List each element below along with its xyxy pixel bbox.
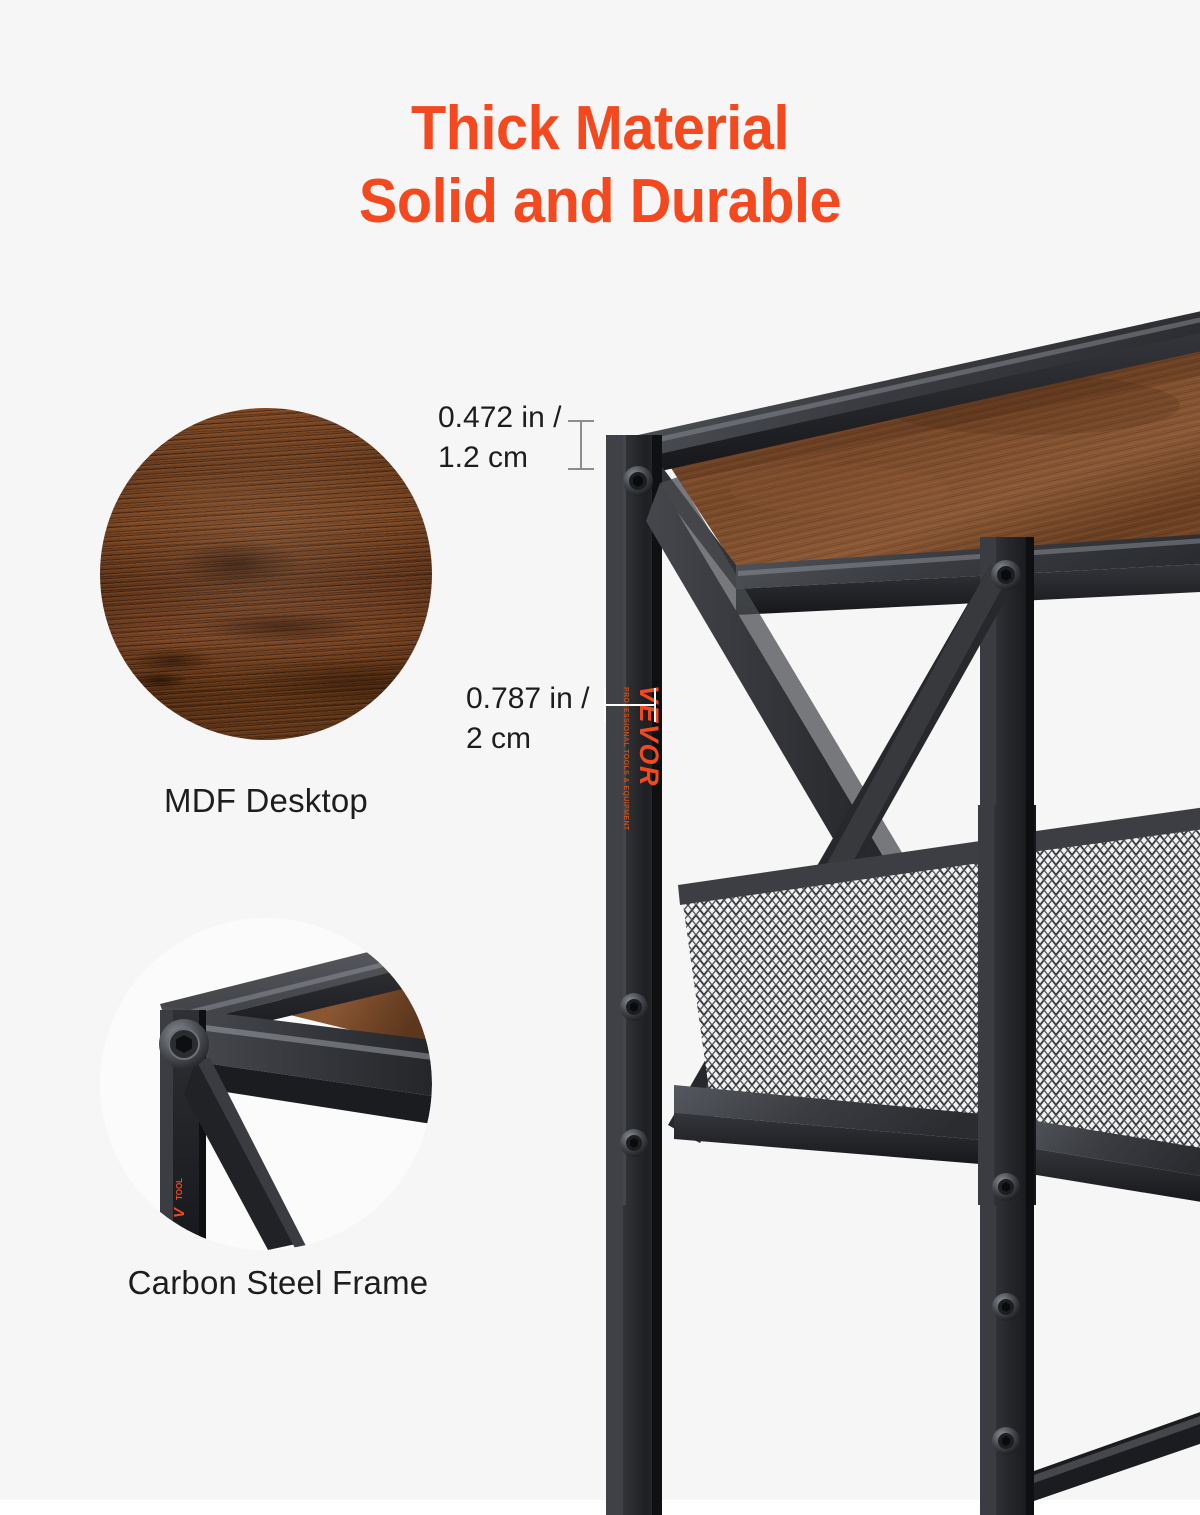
hex-bolt bbox=[620, 1129, 648, 1157]
mdf-desktop-caption: MDF Desktop bbox=[0, 782, 532, 820]
frame-tube-width-cm: 2 cm bbox=[466, 722, 531, 755]
lower-diagonal-rod bbox=[1034, 1405, 1200, 1501]
poster-canvas: Thick Material Solid and Durable MDF Des… bbox=[0, 0, 1200, 1500]
hex-bolt bbox=[992, 1293, 1020, 1321]
headline-line-2: Solid and Durable bbox=[42, 165, 1158, 238]
hex-bolt bbox=[620, 993, 648, 1021]
product-photo: VEVOR PROFESSIONAL TOOLS & EQUIPMENT Ind… bbox=[560, 285, 1200, 1515]
svg-text:TOOL: TOOL bbox=[175, 1178, 184, 1200]
carbon-steel-frame-caption: Carbon Steel Frame bbox=[0, 1264, 556, 1302]
caliper-cap-right bbox=[654, 688, 656, 722]
frame-tube-width-caliper-icon bbox=[604, 688, 656, 722]
hex-bolt bbox=[991, 560, 1021, 590]
shelf-illustration: VEVOR PROFESSIONAL TOOLS & EQUIPMENT Ind… bbox=[560, 285, 1200, 1515]
carbon-steel-frame-swatch: V TOOL bbox=[100, 918, 432, 1250]
hex-bolt bbox=[992, 1173, 1020, 1201]
hex-bolt bbox=[623, 466, 653, 496]
desktop-thickness-cm: 1.2 cm bbox=[438, 441, 528, 474]
frame-corner-closeup: V TOOL bbox=[100, 918, 432, 1250]
swatch-vignette bbox=[100, 408, 432, 740]
mesh-shelf bbox=[674, 805, 1200, 1205]
page-title: Thick Material Solid and Durable bbox=[42, 92, 1158, 238]
headline-line-1: Thick Material bbox=[411, 94, 789, 163]
mdf-desktop-swatch bbox=[100, 408, 432, 740]
desktop-thickness-label: 0.472 in / 1.2 cm bbox=[438, 398, 561, 477]
post-front-overlay bbox=[606, 1205, 1034, 1515]
caliper-bar bbox=[604, 704, 656, 706]
hex-bolt bbox=[992, 1427, 1020, 1455]
svg-text:V: V bbox=[171, 1206, 188, 1218]
desktop-thickness-inches: 0.472 in / bbox=[438, 401, 561, 434]
